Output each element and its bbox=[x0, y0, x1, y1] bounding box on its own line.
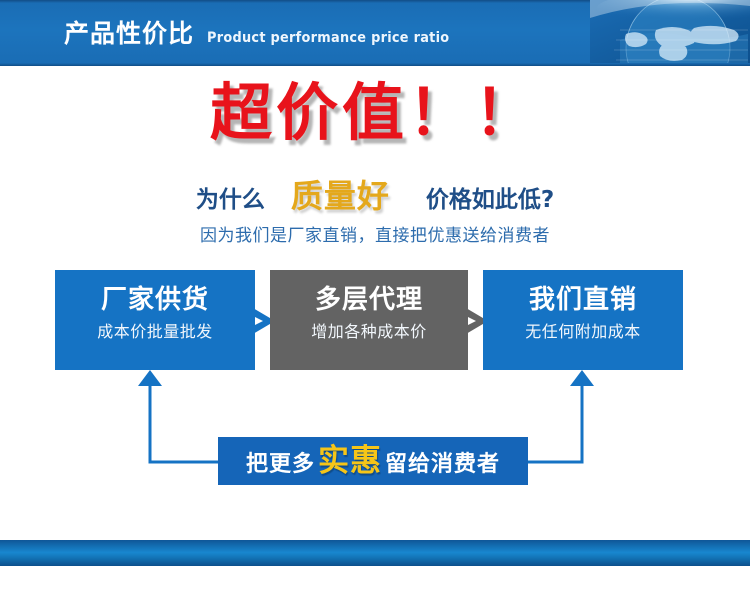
flow-panel-subtitle: 增加各种成本价 bbox=[270, 324, 468, 340]
flow-panel-title: 厂家供货 bbox=[55, 287, 255, 313]
globe-world-map-icon bbox=[590, 0, 750, 66]
header-bottom-edge bbox=[0, 63, 750, 66]
subheading-why: 为什么 bbox=[196, 187, 265, 213]
flow-diagram: 厂家供货 成本价批量批发 多层代理 增加各种成本价 我们直销 无任何附加成本 bbox=[55, 270, 683, 370]
page-footer-strip bbox=[0, 540, 750, 566]
subheading-quality: 质量好 bbox=[291, 177, 390, 215]
callout-prefix: 把更多 bbox=[246, 452, 315, 477]
flow-panel-agents: 多层代理 增加各种成本价 bbox=[270, 270, 468, 370]
page-header: 产品性价比 Product performance price ratio bbox=[0, 0, 750, 66]
promo-banner-page: 产品性价比 Product performance price ratio 超价… bbox=[0, 0, 750, 590]
subheading-row: 为什么质量好价格如此低? bbox=[0, 180, 750, 212]
flow-panel-title: 我们直销 bbox=[483, 287, 683, 313]
callout-highlight: 实惠 bbox=[318, 443, 382, 479]
explanation-text: 因为我们是厂家直销，直接把优惠送给消费者 bbox=[0, 228, 750, 245]
flow-panel-subtitle: 无任何附加成本 bbox=[483, 324, 683, 340]
callout-bar: 把更多实惠留给消费者 bbox=[218, 437, 528, 485]
flow-panel-subtitle: 成本价批量批发 bbox=[55, 324, 255, 340]
flow-panel-supplier: 厂家供货 成本价批量批发 bbox=[55, 270, 255, 370]
main-headline: 超价值！！ bbox=[0, 82, 750, 144]
flow-panel-title: 多层代理 bbox=[270, 287, 468, 313]
callout-suffix: 留给消费者 bbox=[385, 452, 500, 477]
header-title-english: Product performance price ratio bbox=[207, 31, 449, 45]
arrow-up-icon bbox=[138, 370, 162, 386]
header-title-chinese: 产品性价比 bbox=[64, 21, 194, 46]
arrow-up-icon bbox=[570, 370, 594, 386]
flow-panel-direct-sales: 我们直销 无任何附加成本 bbox=[483, 270, 683, 370]
subheading-price: 价格如此低? bbox=[426, 187, 554, 213]
